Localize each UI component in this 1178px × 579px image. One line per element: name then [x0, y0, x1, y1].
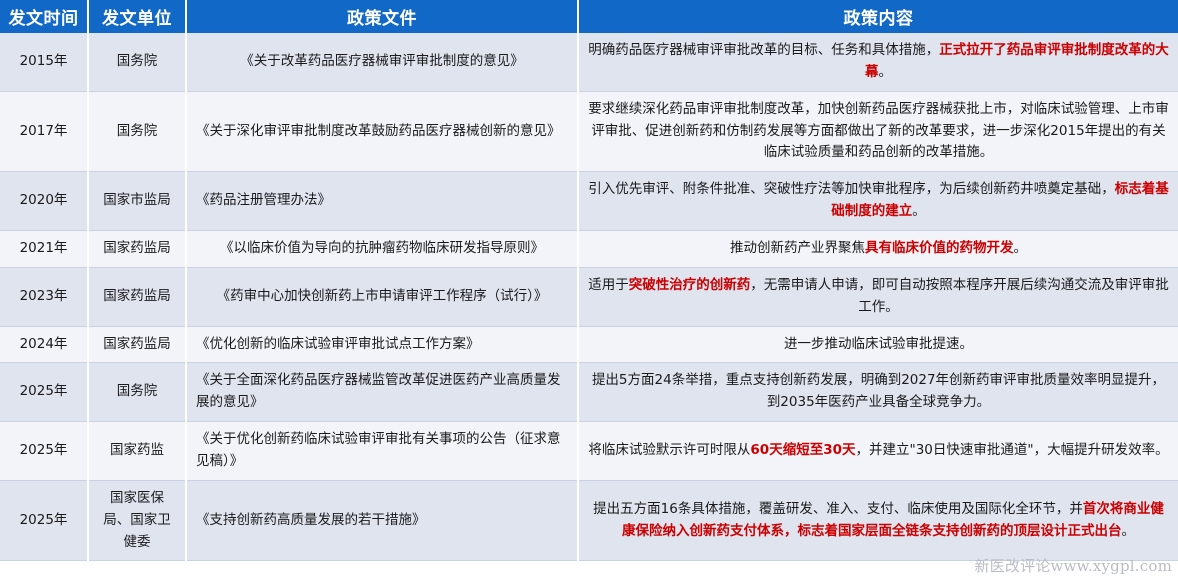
- table-header-row: 发文时间 发文单位 政策文件 政策内容: [0, 0, 1178, 33]
- cell-issuing-body: 国家医保局、国家卫健委: [88, 480, 186, 561]
- table-row: 2015年国务院《关于改革药品医疗器械审评审批制度的意见》明确药品医疗器械审评审…: [0, 33, 1178, 91]
- table-row: 2025年国务院《关于全面深化药品医疗器械监管改革促进医药产业高质量发展的意见》…: [0, 363, 1178, 422]
- cell-policy-document: 《药审中心加快创新药上市申请审评工作程序（试行）》: [186, 267, 578, 326]
- cell-issuing-body: 国务院: [88, 33, 186, 91]
- content-text: 将临床试验默示许可时限从: [588, 442, 750, 458]
- content-highlight: 突破性治疗的创新药: [629, 277, 751, 293]
- cell-issue-time: 2025年: [0, 422, 88, 481]
- cell-policy-document: 《以临床价值为导向的抗肿瘤药物临床研发指导原则》: [186, 231, 578, 268]
- policy-timeline-table-page: 发文时间 发文单位 政策文件 政策内容 2015年国务院《关于改革药品医疗器械审…: [0, 0, 1178, 579]
- content-highlight: 60天缩短至30天: [750, 442, 855, 458]
- cell-policy-document: 《药品注册管理办法》: [186, 172, 578, 231]
- content-text: 适用于: [588, 277, 629, 293]
- cell-issuing-body: 国务院: [88, 91, 186, 172]
- cell-issuing-body: 国家药监局: [88, 267, 186, 326]
- header-issuing-body: 发文单位: [88, 0, 186, 33]
- cell-issue-time: 2021年: [0, 231, 88, 268]
- cell-policy-content: 要求继续深化药品审评审批制度改革，加快创新药品医疗器械获批上市，对临床试验管理、…: [578, 91, 1178, 172]
- content-text: 明确药品医疗器械审评审批改革的目标、任务和具体措施，: [588, 42, 939, 58]
- table-row: 2025年国家医保局、国家卫健委《支持创新药高质量发展的若干措施》提出五方面16…: [0, 480, 1178, 561]
- table-row: 2025年国家药监《关于优化创新药临床试验审评审批有关事项的公告（征求意见稿）》…: [0, 422, 1178, 481]
- content-text: ，无需申请人申请，即可自动按照本程序开展后续沟通交流及审评审批工作。: [750, 277, 1169, 315]
- cell-policy-content: 提出5方面24条举措，重点支持创新药发展，明确到2027年创新药审评审批质量效率…: [578, 363, 1178, 422]
- table-body: 2015年国务院《关于改革药品医疗器械审评审批制度的意见》明确药品医疗器械审评审…: [0, 33, 1178, 561]
- cell-policy-content: 适用于突破性治疗的创新药，无需申请人申请，即可自动按照本程序开展后续沟通交流及审…: [578, 267, 1178, 326]
- cell-policy-content: 提出五方面16条具体措施，覆盖研发、准入、支付、临床使用及国际化全环节，并首次将…: [578, 480, 1178, 561]
- cell-issue-time: 2020年: [0, 172, 88, 231]
- cell-issuing-body: 国家药监: [88, 422, 186, 481]
- table-row: 2024年国家药监局《优化创新的临床试验审评审批试点工作方案》进一步推动临床试验…: [0, 326, 1178, 363]
- cell-issuing-body: 国务院: [88, 363, 186, 422]
- content-text: 。: [879, 64, 893, 80]
- content-text: 提出五方面16条具体措施，覆盖研发、准入、支付、临床使用及国际化全环节，并: [593, 501, 1083, 517]
- content-text: 推动创新药产业界聚焦: [730, 240, 865, 256]
- cell-issue-time: 2024年: [0, 326, 88, 363]
- header-policy-document: 政策文件: [186, 0, 578, 33]
- table-row: 2020年国家市监局《药品注册管理办法》引入优先审评、附条件批准、突破性疗法等加…: [0, 172, 1178, 231]
- cell-issuing-body: 国家药监局: [88, 231, 186, 268]
- cell-policy-content: 明确药品医疗器械审评审批改革的目标、任务和具体措施，正式拉开了药品审评审批制度改…: [578, 33, 1178, 91]
- content-text: ，并建立"30日快速审批通道"，大幅提升研发效率。: [855, 442, 1168, 458]
- content-text: 提出5方面24条举措，重点支持创新药发展，明确到2027年创新药审评审批质量效率…: [592, 372, 1165, 410]
- content-text: 。: [912, 203, 926, 219]
- cell-policy-document: 《关于优化创新药临床试验审评审批有关事项的公告（征求意见稿）》: [186, 422, 578, 481]
- cell-policy-content: 将临床试验默示许可时限从60天缩短至30天，并建立"30日快速审批通道"，大幅提…: [578, 422, 1178, 481]
- cell-issue-time: 2023年: [0, 267, 88, 326]
- cell-policy-content: 推动创新药产业界聚焦具有临床价值的药物开发。: [578, 231, 1178, 268]
- content-text: 。: [1014, 240, 1028, 256]
- cell-policy-document: 《关于深化审评审批制度改革鼓励药品医疗器械创新的意见》: [186, 91, 578, 172]
- content-text: 。: [1122, 523, 1136, 539]
- cell-policy-content: 引入优先审评、附条件批准、突破性疗法等加快审批程序，为后续创新药井喷奠定基础，标…: [578, 172, 1178, 231]
- table-row: 2017年国务院《关于深化审评审批制度改革鼓励药品医疗器械创新的意见》要求继续深…: [0, 91, 1178, 172]
- cell-policy-document: 《优化创新的临床试验审评审批试点工作方案》: [186, 326, 578, 363]
- policy-table: 发文时间 发文单位 政策文件 政策内容 2015年国务院《关于改革药品医疗器械审…: [0, 0, 1178, 561]
- cell-issue-time: 2025年: [0, 480, 88, 561]
- cell-issue-time: 2015年: [0, 33, 88, 91]
- table-header: 发文时间 发文单位 政策文件 政策内容: [0, 0, 1178, 33]
- cell-issuing-body: 国家药监局: [88, 326, 186, 363]
- cell-policy-document: 《关于全面深化药品医疗器械监管改革促进医药产业高质量发展的意见》: [186, 363, 578, 422]
- table-row: 2023年国家药监局《药审中心加快创新药上市申请审评工作程序（试行）》适用于突破…: [0, 267, 1178, 326]
- cell-policy-content: 进一步推动临床试验审批提速。: [578, 326, 1178, 363]
- content-text: 引入优先审评、附条件批准、突破性疗法等加快审批程序，为后续创新药井喷奠定基础，: [588, 181, 1115, 197]
- header-issue-time: 发文时间: [0, 0, 88, 33]
- cell-policy-document: 《关于改革药品医疗器械审评审批制度的意见》: [186, 33, 578, 91]
- cell-issuing-body: 国家市监局: [88, 172, 186, 231]
- table-row: 2021年国家药监局《以临床价值为导向的抗肿瘤药物临床研发指导原则》推动创新药产…: [0, 231, 1178, 268]
- cell-policy-document: 《支持创新药高质量发展的若干措施》: [186, 480, 578, 561]
- cell-issue-time: 2017年: [0, 91, 88, 172]
- content-text: 要求继续深化药品审评审批制度改革，加快创新药品医疗器械获批上市，对临床试验管理、…: [588, 101, 1169, 161]
- content-text: 进一步推动临床试验审批提速。: [784, 336, 973, 352]
- content-highlight: 具有临床价值的药物开发: [865, 240, 1014, 256]
- cell-issue-time: 2025年: [0, 363, 88, 422]
- header-policy-content: 政策内容: [578, 0, 1178, 33]
